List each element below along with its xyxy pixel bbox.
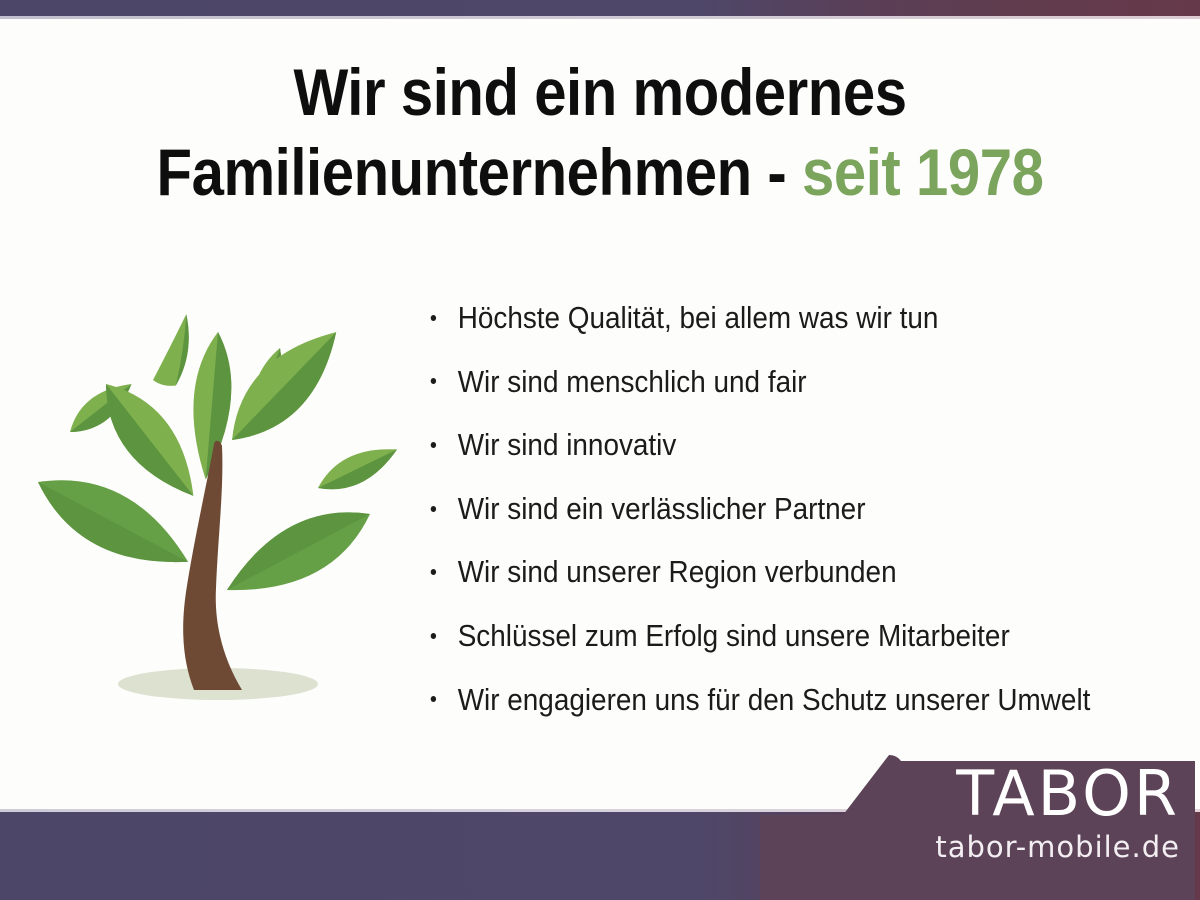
bullet-dot-icon bbox=[431, 506, 436, 512]
bullet-dot-icon bbox=[431, 633, 436, 639]
list-item-label: Wir engagieren uns für den Schutz unsere… bbox=[458, 682, 1091, 717]
brand-logo[interactable]: TABOR tabor-mobile.de bbox=[880, 763, 1180, 863]
bullet-dot-icon bbox=[431, 442, 436, 448]
list-item: Wir sind innovativ bbox=[428, 413, 1112, 477]
page-title-line-2: Familienunternehmen - seit 1978 bbox=[125, 132, 1075, 212]
values-list: Höchste Qualität, bei allem was wir tun … bbox=[428, 286, 1188, 731]
page-title-accent: seit 1978 bbox=[802, 135, 1043, 209]
tree-trunk bbox=[183, 441, 242, 690]
tree-icon bbox=[18, 292, 420, 710]
page-title-line-1: Wir sind ein modernes bbox=[125, 52, 1075, 132]
slide-root: Wir sind ein modernes Familienunternehme… bbox=[0, 0, 1200, 900]
list-item-label: Wir sind ein verlässlicher Partner bbox=[458, 491, 866, 526]
list-item: Wir sind unserer Region verbunden bbox=[428, 540, 1112, 604]
brand-url[interactable]: tabor-mobile.de bbox=[880, 831, 1180, 863]
page-title: Wir sind ein modernes Familienunternehme… bbox=[125, 52, 1075, 212]
list-item: Wir sind ein verlässlicher Partner bbox=[428, 477, 1112, 541]
brand-wordmark: TABOR bbox=[880, 763, 1180, 825]
list-item: Wir engagieren uns für den Schutz unsere… bbox=[428, 668, 1112, 732]
bullet-dot-icon bbox=[431, 378, 436, 384]
list-item: Schlüssel zum Erfolg sind unsere Mitarbe… bbox=[428, 604, 1112, 668]
bullet-dot-icon bbox=[431, 315, 436, 321]
top-bar-highlight bbox=[0, 16, 1200, 19]
page-title-line-2-main: Familienunternehmen - bbox=[157, 135, 802, 209]
list-item: Höchste Qualität, bei allem was wir tun bbox=[428, 286, 1112, 350]
list-item-label: Höchste Qualität, bei allem was wir tun bbox=[458, 300, 939, 335]
list-item-label: Wir sind unserer Region verbunden bbox=[458, 554, 897, 589]
bullet-dot-icon bbox=[431, 569, 436, 575]
bullet-dot-icon bbox=[431, 696, 436, 702]
list-item: Wir sind menschlich und fair bbox=[428, 350, 1112, 414]
list-item-label: Wir sind innovativ bbox=[458, 427, 677, 462]
list-item-label: Wir sind menschlich und fair bbox=[458, 364, 807, 399]
list-item-label: Schlüssel zum Erfolg sind unsere Mitarbe… bbox=[458, 618, 1010, 653]
top-gradient-bar bbox=[0, 0, 1200, 16]
